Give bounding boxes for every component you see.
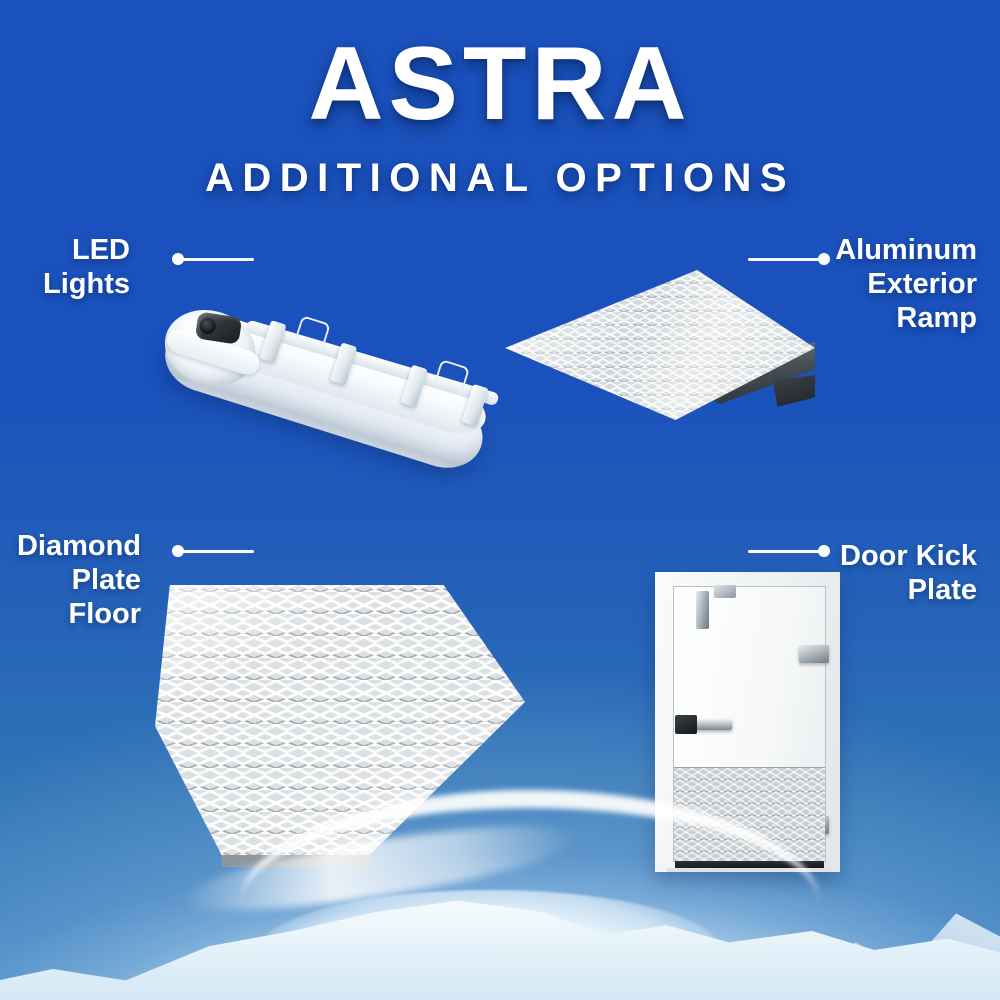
product-image-led-vapor-tight-fixture — [150, 262, 530, 452]
callout-label-led-lights: LED Lights — [0, 234, 130, 302]
leader-bar — [179, 258, 254, 261]
door-closer-icon — [696, 591, 709, 629]
product-image-aluminum-diamond-plate-ramp — [505, 262, 855, 442]
ramp-sheen — [505, 270, 815, 420]
ramp-tread-surface — [505, 270, 815, 420]
leader-line-diamond-plate-floor — [172, 545, 254, 557]
page-subtitle: ADDITIONAL OPTIONS — [0, 156, 1000, 201]
title-block: ASTRA ADDITIONAL OPTIONS — [0, 32, 1000, 201]
callout-label-diamond-plate-floor: Diamond Plate Floor — [0, 530, 141, 632]
door-closer-arm — [714, 585, 736, 598]
leader-bar — [179, 550, 254, 553]
poster-canvas: ASTRA ADDITIONAL OPTIONS LED Lights Alum… — [0, 0, 1000, 1000]
page-title: ASTRA — [0, 32, 1000, 136]
door-hinge-icon — [799, 645, 829, 663]
led-body — [154, 298, 496, 485]
door-handle-icon — [684, 719, 732, 730]
ice-formation-graphic — [0, 770, 1000, 1000]
